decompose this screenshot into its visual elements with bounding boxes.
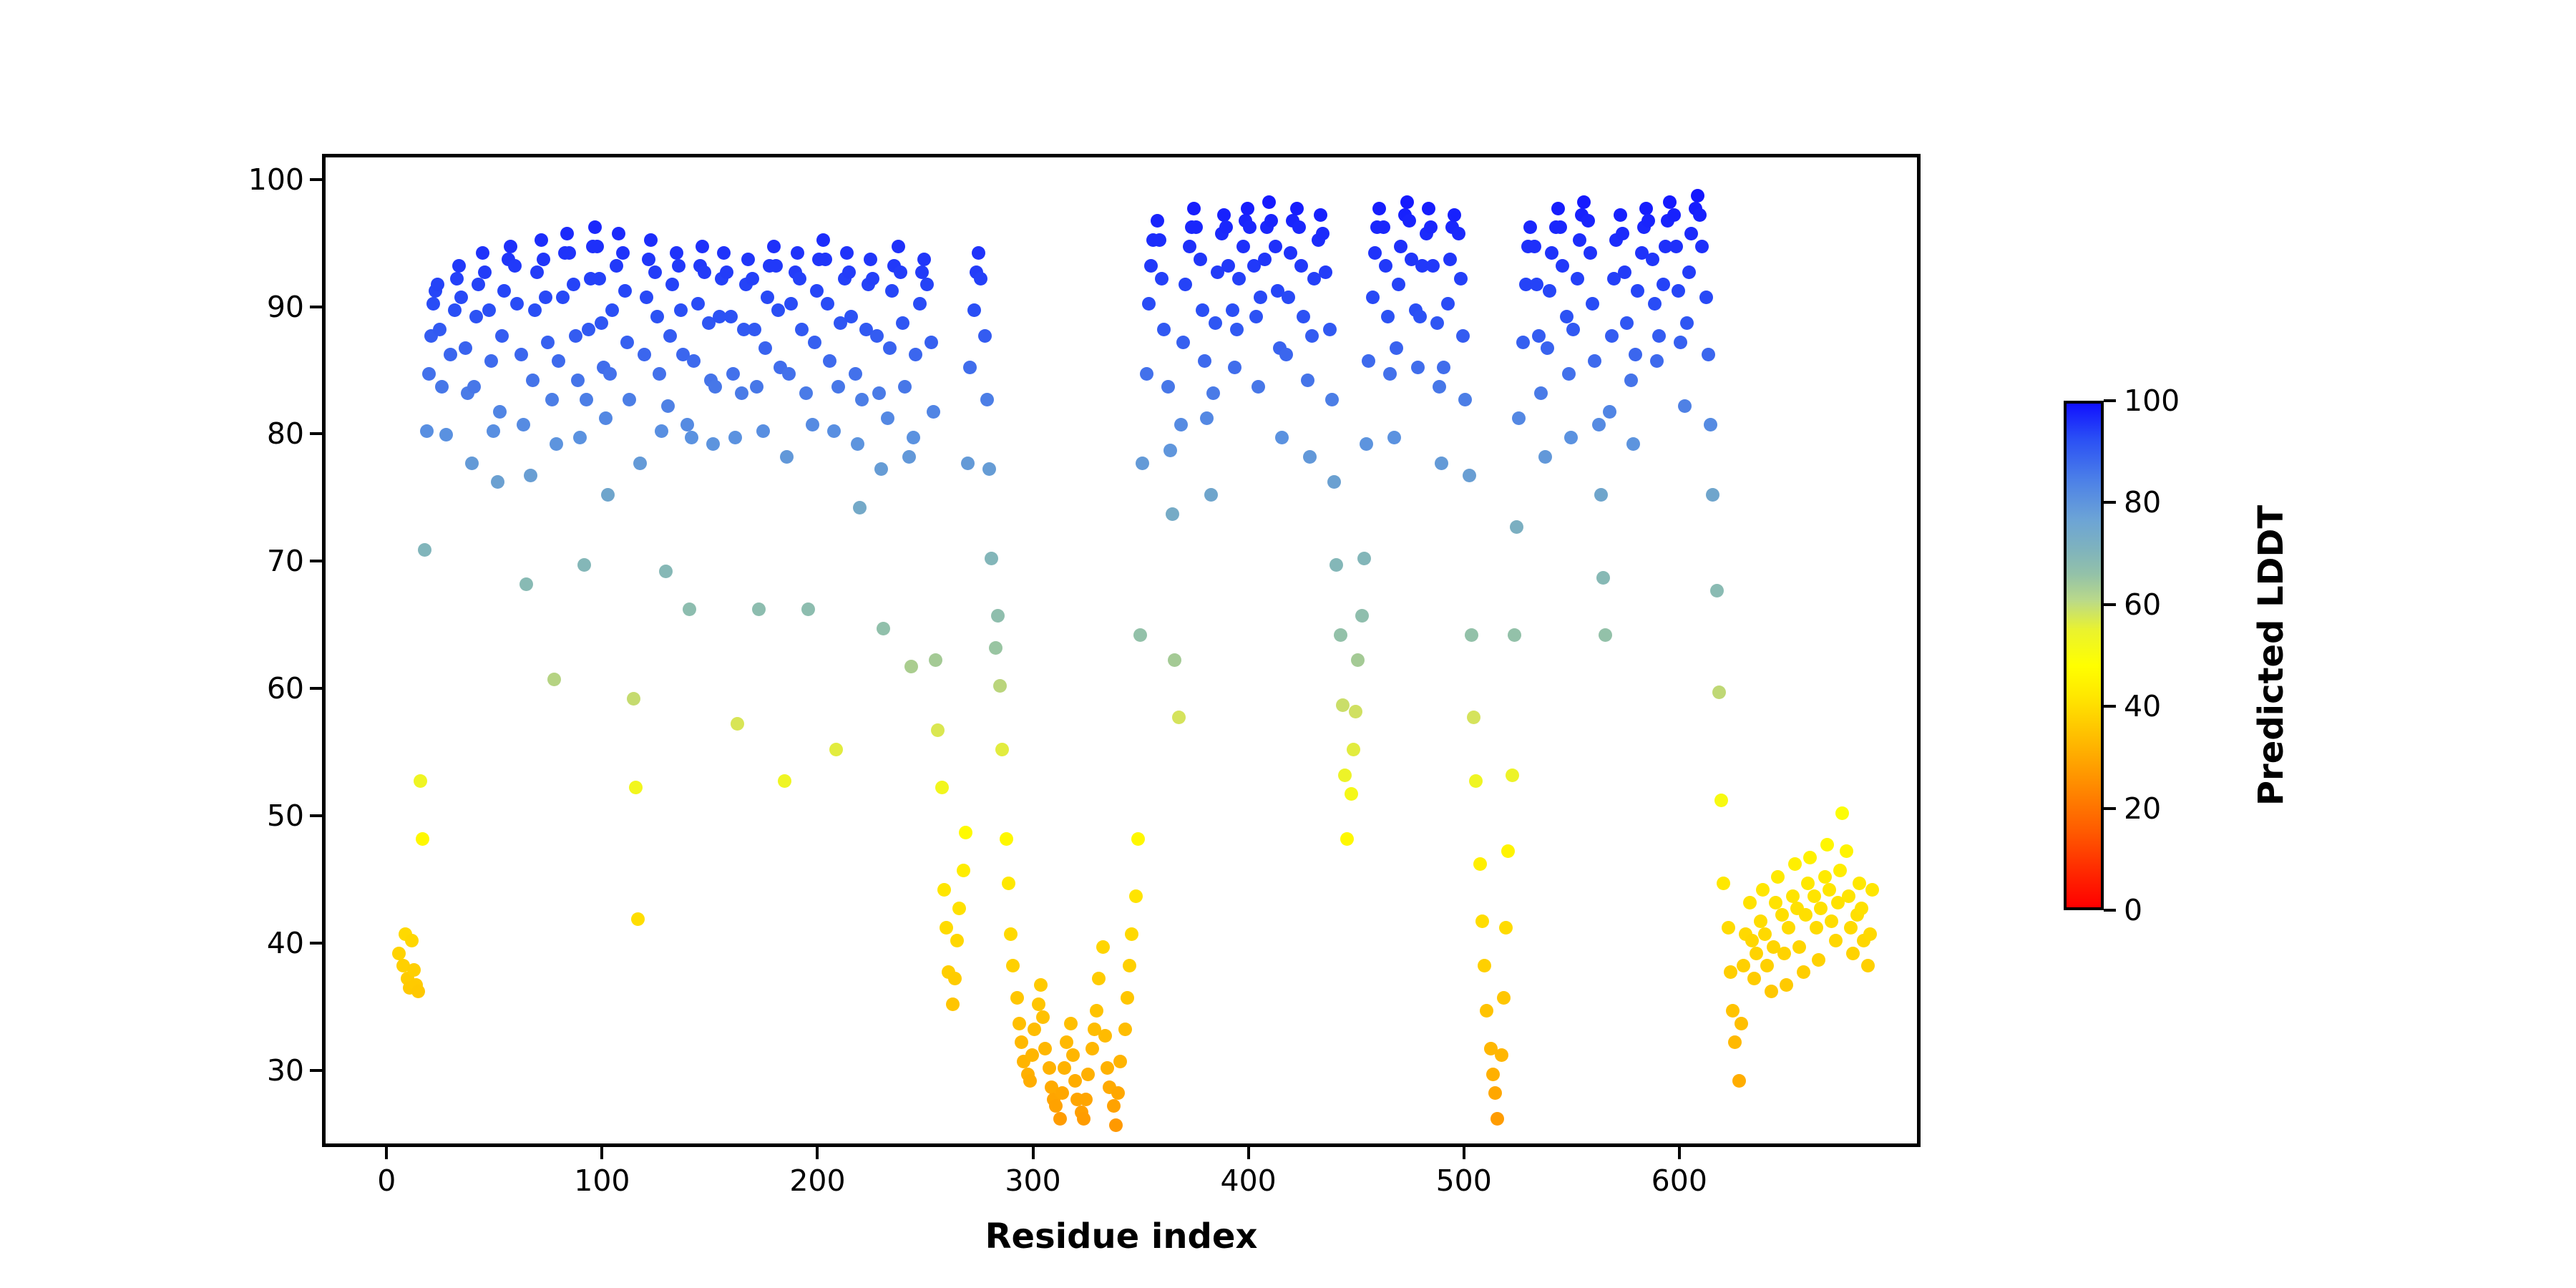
scatter-point [829,743,843,756]
scatter-point [1153,233,1166,247]
x-tick-label: 500 [1436,1163,1492,1198]
scatter-point [1491,1112,1504,1126]
scatter-point [469,310,483,323]
scatter-point [1581,214,1595,228]
scatter-point [1098,1029,1112,1043]
scatter-point [1055,1086,1069,1100]
scatter-point [562,246,576,260]
scatter-point [1217,208,1231,222]
y-tick-label: 30 [267,1053,304,1088]
scatter-point [623,393,636,406]
scatter-point [1379,259,1392,273]
scatter-point [1782,921,1795,935]
scatter-point [1454,272,1468,286]
x-tick-mark [600,1147,603,1159]
scatter-point [1792,940,1806,954]
scatter-point [1314,208,1327,222]
y-tick-label: 80 [267,416,304,451]
scatter-point [1799,908,1813,922]
scatter-point [1797,965,1810,979]
scatter-point [967,303,981,317]
figure-canvas: 0100200300400500600 30405060708090100 Re… [0,0,2576,1288]
scatter-point [1226,303,1239,317]
scatter-point [467,380,481,394]
scatter-point [1786,889,1800,903]
scatter-point [959,826,972,839]
scatter-point [631,912,645,926]
scatter-point [1316,227,1330,240]
x-tick-label: 600 [1652,1163,1707,1198]
scatter-point [1133,628,1147,642]
scatter-point [1710,584,1724,597]
scatter-point [1480,1004,1493,1018]
scatter-point [1674,336,1687,349]
scatter-point [1204,488,1218,502]
scatter-point [1131,832,1145,846]
scatter-point [1077,1112,1091,1126]
scatter-point [537,253,550,266]
scatter-point [1495,1048,1508,1062]
colorbar-container: 020406080100 Predicted LDDT [2064,401,2493,930]
scatter-point [793,272,806,286]
scatter-point [560,227,574,240]
y-tick-mark [310,814,322,817]
scatter-point [1652,329,1666,343]
scatter-point [806,418,819,431]
scatter-point [1174,418,1188,431]
scatter-point [1516,336,1530,349]
scatter-point [1545,246,1558,260]
scatter-point [1390,341,1403,355]
scatter-point [1571,272,1584,286]
scatter-point [1605,329,1619,343]
scatter-point [898,380,912,394]
scatter-point [1648,297,1662,311]
scatter-point [601,488,615,502]
scatter-point [1584,246,1597,260]
scatter-point [1599,628,1612,642]
scatter-point [1646,253,1659,266]
scatter-point [1258,253,1272,266]
scatter-point [1486,1068,1500,1081]
scatter-point [1501,844,1515,858]
scatter-point [1810,921,1823,935]
scatter-point [717,246,731,260]
scatter-point [1760,959,1774,972]
scatter-point [840,246,854,260]
scatter-point [1121,991,1134,1005]
scatter-point [1497,991,1511,1005]
y-tick-label: 50 [267,799,304,833]
scatter-point [1441,297,1455,311]
scatter-point [993,679,1007,693]
x-tick-mark [1032,1147,1035,1159]
scatter-point [1129,889,1143,903]
scatter-point [1631,284,1644,298]
scatter-point [1562,367,1576,381]
scatter-point [769,259,783,273]
scatter-point [1853,877,1866,890]
x-tick-label: 400 [1220,1163,1276,1198]
scatter-point [1319,265,1332,279]
scatter-point [450,272,464,286]
y-tick-label: 90 [267,290,304,324]
scatter-point [1840,844,1853,858]
scatter-point [1284,246,1297,260]
scatter-point [1452,227,1465,240]
scatter-point [497,284,511,298]
scatter-point [618,284,632,298]
scatter-point [720,265,733,279]
scatter-point [982,462,996,476]
scatter-point [545,393,559,406]
scatter-point [1750,947,1763,960]
scatter-point [1015,1035,1028,1049]
scatter-point [728,431,742,444]
scatter-point [924,336,938,349]
scatter-point [1413,310,1427,323]
scatter-point [778,774,791,788]
scatter-point [1629,348,1642,361]
scatter-point [1699,291,1713,304]
x-tick-mark [1463,1147,1465,1159]
scatter-point [472,278,485,291]
scatter-point [683,602,696,616]
scatter-point [735,386,748,400]
scatter-point [1510,520,1523,534]
scatter-point [487,424,500,438]
scatter-point [1807,889,1821,903]
scatter-point [1422,202,1435,215]
scatter-point [517,418,530,431]
scatter-point [1090,1004,1103,1018]
scatter-points-layer [326,157,1917,1143]
scatter-point [1279,348,1293,361]
scatter-point [1717,877,1730,890]
scatter-point [1506,769,1519,782]
scatter-point [435,380,449,394]
colorbar-tick-mark [2104,603,2116,606]
scatter-point [1426,259,1440,273]
scatter-point [1680,316,1694,330]
scatter-point [1166,507,1179,521]
scatter-point [1473,857,1487,871]
scatter-point [726,367,740,381]
scatter-point [1614,208,1627,222]
scatter-point [1123,959,1136,972]
scatter-point [808,336,821,349]
scatter-point [750,380,763,394]
scatter-point [1034,978,1048,992]
scatter-point [1394,240,1407,253]
scatter-point [1566,323,1580,336]
scatter-point [1232,272,1246,286]
scatter-point [1262,195,1276,209]
scatter-point [1200,411,1214,425]
scatter-point [629,781,643,794]
scatter-point [420,424,434,438]
scatter-point [937,883,951,897]
scatter-point [1732,1074,1746,1088]
y-tick-mark [310,432,322,435]
scatter-point [680,418,694,431]
scatter-point [864,253,877,266]
scatter-point [1657,278,1670,291]
scatter-point [1292,220,1306,234]
scatter-point [1743,896,1757,909]
scatter-point [484,354,498,368]
scatter-point [1528,240,1541,253]
y-tick-mark [310,178,322,181]
scatter-point [1330,558,1343,572]
scatter-point [1230,323,1244,336]
scatter-point [1049,1099,1063,1113]
scatter-point [588,220,602,234]
scatter-point [1475,914,1489,928]
scatter-point [1758,927,1772,941]
scatter-point [1219,220,1233,234]
scatter-point [405,934,419,947]
scatter-point [877,622,890,635]
scatter-point [1788,857,1802,871]
scatter-point [569,329,582,343]
scatter-point [1626,437,1640,451]
scatter-point [1368,246,1382,260]
scatter-point [1228,361,1241,374]
scatter-point [1053,1112,1067,1126]
x-tick-mark [385,1147,388,1159]
scatter-point [535,233,548,247]
scatter-point [1777,947,1791,960]
scatter-point [823,354,836,368]
scatter-point [573,431,587,444]
scatter-point [552,354,565,368]
scatter-point [1157,323,1171,336]
scatter-point [644,233,658,247]
scatter-point [816,233,830,247]
scatter-point [653,367,666,381]
scatter-point [1325,393,1339,406]
scatter-point [1161,380,1175,394]
scatter-point [1560,310,1574,323]
scatter-point [592,272,606,286]
scatter-point [1023,1074,1037,1088]
scatter-point [1624,374,1638,387]
scatter-point [935,781,949,794]
scatter-point [1844,921,1858,935]
scatter-point [756,424,770,438]
scatter-point [638,348,651,361]
scatter-point [1663,195,1677,209]
scatter-point [872,386,886,400]
colorbar-tick-label: 20 [2124,791,2161,826]
scatter-point [780,450,794,464]
scatter-point [985,552,998,565]
scatter-point [927,405,940,419]
scatter-point [1111,1086,1125,1100]
scatter-point [1362,354,1375,368]
scatter-point [1025,1048,1039,1062]
scatter-point [907,431,920,444]
scatter-point [799,386,813,400]
scatter-point [1825,914,1838,928]
scatter-point [1564,431,1578,444]
scatter-point [1523,220,1537,234]
y-tick-label: 70 [267,544,304,578]
scatter-point [989,641,1002,655]
x-tick-mark [1678,1147,1681,1159]
scatter-point [1586,297,1599,311]
scatter-point [1109,1118,1123,1132]
scatter-point [1142,297,1156,311]
scatter-point [1801,877,1815,890]
scatter-point [1206,386,1220,400]
scatter-point [1081,1068,1095,1081]
scatter-point [1058,1061,1071,1075]
scatter-point [1616,227,1629,240]
scatter-point [1066,1048,1080,1062]
scatter-point [1747,972,1761,985]
scatter-point [1714,794,1728,807]
scatter-point [1556,259,1569,273]
scatter-point [948,972,962,985]
scatter-point [1499,921,1513,935]
scatter-point [1684,227,1698,240]
scatter-point [1338,769,1352,782]
scatter-point [1038,1042,1052,1055]
scatter-point [526,374,540,387]
scatter-point [946,997,960,1011]
scatter-point [510,297,524,311]
scatter-point [459,341,472,355]
scatter-point [550,437,563,451]
colorbar-tick-label: 60 [2124,587,2161,622]
scatter-point [1861,959,1875,972]
scatter-point [1360,437,1373,451]
scatter-point [1357,552,1371,565]
scatter-point [1290,202,1304,215]
scatter-point [493,405,507,419]
scatter-point [414,774,427,788]
scatter-point [1541,341,1554,355]
scatter-point [881,411,894,425]
scatter-point [590,240,604,253]
scatter-point [1693,208,1707,222]
scatter-point [1381,310,1395,323]
scatter-point [1437,361,1450,374]
scatter-point [801,602,815,616]
scatter-point [1823,883,1836,897]
scatter-point [952,902,966,915]
scatter-point [1745,934,1759,947]
scatter-point [1553,220,1567,234]
scatter-point [1639,202,1653,215]
scatter-point [961,457,975,470]
scatter-point [1424,220,1438,234]
scatter-point [929,653,942,667]
scatter-point [541,336,555,349]
colorbar-tick-mark [2104,399,2116,402]
scatter-point [1534,386,1548,400]
scatter-point [1735,1017,1748,1030]
scatter-point [1249,310,1263,323]
x-tick-label: 200 [789,1163,845,1198]
scatter-point [524,469,537,482]
scatter-point [1387,431,1401,444]
colorbar-tick-label: 80 [2124,485,2161,519]
scatter-point [1144,259,1158,273]
scatter-point [1252,380,1265,394]
scatter-point [1006,959,1020,972]
scatter-point [599,411,613,425]
scatter-point [547,673,561,686]
scatter-point [870,329,884,343]
scatter-point [672,259,686,273]
scatter-point [605,303,619,317]
scatter-point [1032,997,1045,1011]
scatter-point [1092,972,1106,985]
scatter-point [853,501,867,514]
scatter-point [1340,832,1354,846]
scatter-point [452,259,466,273]
scatter-point [495,329,509,343]
scatter-point [642,253,655,266]
scatter-point [1737,959,1750,972]
scatter-point [422,367,436,381]
scatter-point [1101,1061,1114,1075]
scatter-point [1577,195,1591,209]
scatter-point [902,450,916,464]
scatter-point [844,310,858,323]
scatter-point [1704,418,1717,431]
scatter-point [661,399,675,413]
scatter-point [1771,870,1785,884]
scatter-point [972,246,985,260]
scatter-point [1775,908,1789,922]
scatter-point [940,921,953,935]
scatter-point [974,272,987,286]
scatter-point [1349,705,1362,718]
y-tick-label: 40 [267,926,304,960]
y-tick-label: 60 [267,671,304,706]
scatter-point [620,336,634,349]
y-tick-label: 100 [248,162,304,197]
scatter-point [1812,953,1825,967]
scatter-point [1163,444,1177,457]
scatter-point [810,284,824,298]
colorbar-tick-mark [2104,501,2116,504]
scatter-point [1183,240,1196,253]
scatter-point [1430,316,1444,330]
scatter-point [1818,870,1832,884]
scatter-point [1669,240,1683,253]
scatter-point [1706,488,1719,502]
scatter-point [567,278,580,291]
scatter-point [761,291,774,304]
scatter-point [1043,1061,1056,1075]
scatter-point [1594,488,1608,502]
colorbar-tick-mark [2104,909,2116,912]
scatter-point [1672,284,1685,298]
scatter-point [1113,1055,1127,1068]
scatter-point [1236,240,1250,253]
scatter-point [1402,214,1416,228]
scatter-point [1125,927,1138,941]
scatter-point [665,278,679,291]
scatter-point [827,424,841,438]
y-tick-mark [310,1069,322,1072]
scatter-point [1829,934,1843,947]
